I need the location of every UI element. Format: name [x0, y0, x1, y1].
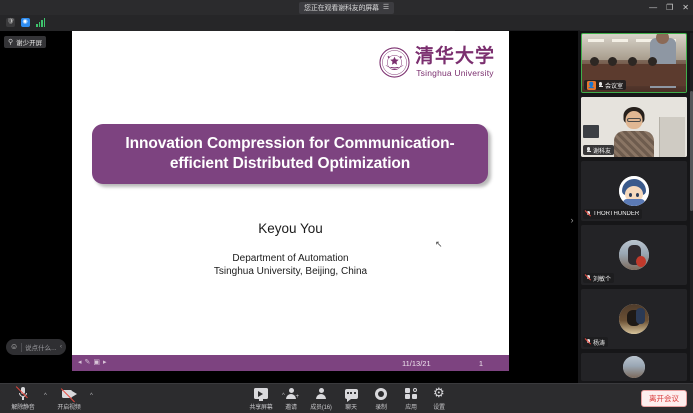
- settings-gear-icon: [433, 387, 445, 400]
- slide-nav-icons[interactable]: ◂ ✎ ▣ ▸: [78, 359, 107, 366]
- mouse-cursor-icon: ↖: [435, 239, 443, 250]
- leave-meeting-button[interactable]: 离开会议: [641, 390, 687, 407]
- participant-name-chip: THORTHUNDER: [583, 209, 642, 219]
- mute-button[interactable]: 解除静音: [6, 387, 40, 411]
- participant-name-chip: 杨涛: [583, 337, 608, 347]
- host-badge-icon: 👤: [587, 81, 596, 90]
- chat-button-label: 聊天: [345, 402, 357, 411]
- participants-button[interactable]: 成员(16): [304, 387, 338, 411]
- record-button[interactable]: 录制: [364, 387, 398, 411]
- chat-button[interactable]: 聊天: [334, 387, 368, 411]
- participant-name: 刘敏个: [593, 274, 611, 283]
- window-controls: — ❐ ✕: [649, 0, 689, 15]
- participant-tile-0[interactable]: 👤 会议室: [581, 33, 687, 93]
- pen-icon[interactable]: ✎: [85, 359, 91, 366]
- divider: [21, 343, 22, 352]
- title-bar: 您正在观看谢科友的屏幕 ☰ — ❐ ✕: [0, 0, 693, 15]
- participant-tile-3[interactable]: 刘敏个: [581, 225, 687, 285]
- slide-page-number: 1: [479, 359, 483, 368]
- slide-footer: ◂ ✎ ▣ ▸ 11/13/21 1: [72, 355, 509, 371]
- microphone-muted-icon: [17, 387, 29, 400]
- sharing-notice-label: 您正在观看谢科友的屏幕: [304, 3, 379, 13]
- page-title: Innovation Compression for Communication…: [92, 134, 488, 174]
- pin-chip[interactable]: ⚲ 谢少开屏: [4, 36, 46, 48]
- avatar: [619, 240, 649, 270]
- network-signal-icon[interactable]: [36, 18, 45, 27]
- expand-filmstrip-arrow[interactable]: ›: [568, 209, 576, 231]
- logo-en-text: Tsinghua University: [416, 68, 494, 78]
- status-icons: [6, 18, 45, 27]
- filmstrip-scrollbar-thumb[interactable]: [690, 91, 693, 211]
- menu-icon[interactable]: ☰: [383, 4, 389, 11]
- participant-tile-5[interactable]: [581, 353, 687, 381]
- participants-button-label: 成员(16): [310, 402, 331, 411]
- apps-button-label: 应用: [405, 402, 417, 411]
- settings-button-label: 设置: [433, 402, 445, 411]
- camera-muted-icon: [62, 387, 77, 400]
- maximize-button[interactable]: ❐: [666, 4, 673, 12]
- slide-affiliation: Department of Automation Tsinghua Univer…: [72, 253, 509, 279]
- quick-chat-input[interactable]: ☺ 说点什么... ‹: [6, 339, 66, 355]
- participant-tile-2[interactable]: THORTHUNDER: [581, 161, 687, 221]
- slide-date: 11/13/21: [402, 359, 431, 368]
- settings-button[interactable]: 设置: [422, 387, 456, 411]
- mute-options-chevron-icon[interactable]: ^: [44, 393, 47, 399]
- participant-tile-4[interactable]: 杨涛: [581, 289, 687, 349]
- record-button-label: 录制: [375, 402, 387, 411]
- slide-author: Keyou You: [72, 221, 509, 236]
- start-video-button-label: 开启视频: [57, 402, 80, 411]
- invite-button-label: 邀请: [285, 402, 297, 411]
- affiliation-line-1: Department of Automation: [72, 253, 509, 266]
- participant-name: THORTHUNDER: [593, 211, 639, 217]
- close-button[interactable]: ✕: [682, 4, 689, 12]
- meeting-toolbar: 解除静音 ^ 开启视频 ^ 共享屏幕 ^ + 邀请 成员(: [0, 383, 693, 413]
- participant-name-chip: 谢科友: [583, 145, 614, 155]
- shield-icon[interactable]: [6, 18, 15, 27]
- microphone-icon: [598, 82, 603, 89]
- mute-button-label: 解除静音: [11, 402, 34, 411]
- invite-person-icon: +: [285, 387, 297, 400]
- microphone-muted-icon: [586, 339, 591, 346]
- logo-cn-text: 清华大学: [415, 47, 495, 66]
- minimize-button[interactable]: —: [649, 4, 657, 12]
- slide-title-banner: Innovation Compression for Communication…: [92, 124, 488, 184]
- collapse-icon[interactable]: ‹: [60, 344, 62, 350]
- participant-name-chip: 👤 会议室: [584, 80, 626, 90]
- quick-chat-placeholder: 说点什么...: [25, 342, 56, 352]
- apps-icon: [405, 387, 417, 400]
- microphone-muted-icon: [586, 275, 591, 282]
- participant-name-chip: 刘敏个: [583, 273, 614, 283]
- share-screen-button-label: 共享屏幕: [249, 402, 272, 411]
- pin-label: 谢少开屏: [16, 37, 42, 47]
- meeting-window: 您正在观看谢科友的屏幕 ☰ — ❐ ✕ 正在讲话: 陈曦, 谢科友 04:24 …: [0, 0, 693, 413]
- avatar: [619, 304, 649, 334]
- avatar: [623, 356, 645, 378]
- participant-name: 谢科友: [593, 146, 611, 155]
- participant-name: 会议室: [605, 81, 623, 90]
- record-indicator-icon[interactable]: [21, 18, 30, 27]
- tsinghua-seal-icon: [379, 47, 410, 78]
- next-arrow-icon[interactable]: ▸: [103, 359, 107, 366]
- avatar: [619, 176, 649, 206]
- pin-icon: ⚲: [8, 39, 13, 46]
- sharing-notice-pill[interactable]: 您正在观看谢科友的屏幕 ☰: [299, 2, 394, 14]
- chat-icon: [345, 387, 358, 400]
- share-screen-icon: [254, 387, 268, 400]
- participant-name: 杨涛: [593, 338, 605, 347]
- microphone-icon: [586, 147, 591, 154]
- slide-icon[interactable]: ▣: [93, 359, 100, 366]
- presentation-slide: 清华大学 Tsinghua University Innovation Comp…: [72, 31, 509, 371]
- status-bar: 正在讲话: 陈曦, 谢科友 04:24 ▤ 演讲者视图 ▾: [0, 15, 693, 31]
- tsinghua-logo: 清华大学 Tsinghua University: [379, 47, 495, 78]
- prev-arrow-icon[interactable]: ◂: [78, 359, 82, 366]
- participants-icon: [315, 387, 327, 400]
- participant-filmstrip[interactable]: 👤 会议室 谢科友 TH: [578, 31, 693, 383]
- video-options-chevron-icon[interactable]: ^: [90, 393, 93, 399]
- invite-button[interactable]: + 邀请: [274, 387, 308, 411]
- participant-tile-1[interactable]: 谢科友: [581, 97, 687, 157]
- emoji-icon[interactable]: ☺: [10, 343, 18, 351]
- share-screen-button[interactable]: 共享屏幕: [244, 387, 278, 411]
- microphone-muted-icon: [586, 211, 591, 218]
- affiliation-line-2: Tsinghua University, Beijing, China: [72, 266, 509, 279]
- record-icon: [375, 387, 387, 400]
- start-video-button[interactable]: 开启视频: [52, 387, 86, 411]
